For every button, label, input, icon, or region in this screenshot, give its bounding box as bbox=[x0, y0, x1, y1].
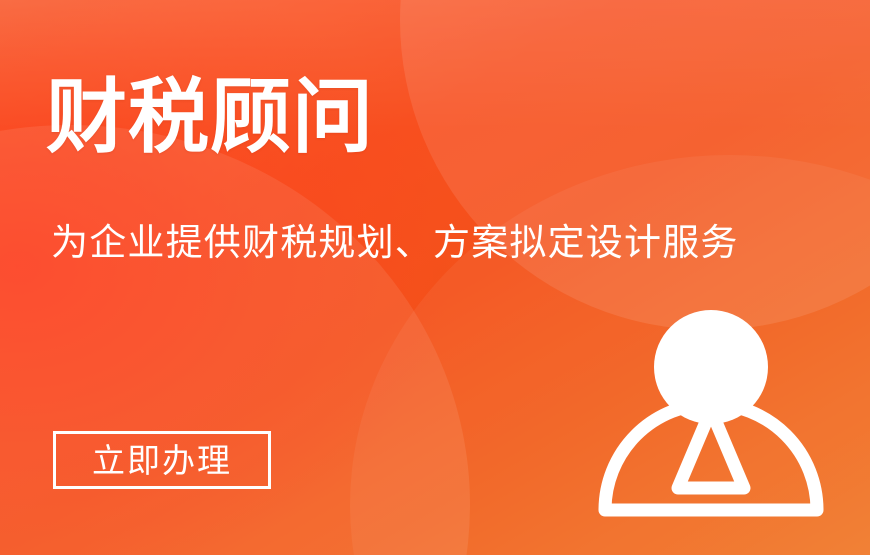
banner-title: 财税顾问 bbox=[46, 78, 374, 159]
banner-subtitle: 为企业提供财税规划、方案拟定设计服务 bbox=[51, 222, 739, 265]
promo-banner: 财税顾问 为企业提供财税规划、方案拟定设计服务 立即办理 bbox=[0, 0, 870, 555]
banner-content: 财税顾问 为企业提供财税规划、方案拟定设计服务 立即办理 bbox=[0, 0, 870, 555]
apply-now-button[interactable]: 立即办理 bbox=[53, 431, 271, 489]
person-advisor-icon bbox=[592, 298, 840, 528]
